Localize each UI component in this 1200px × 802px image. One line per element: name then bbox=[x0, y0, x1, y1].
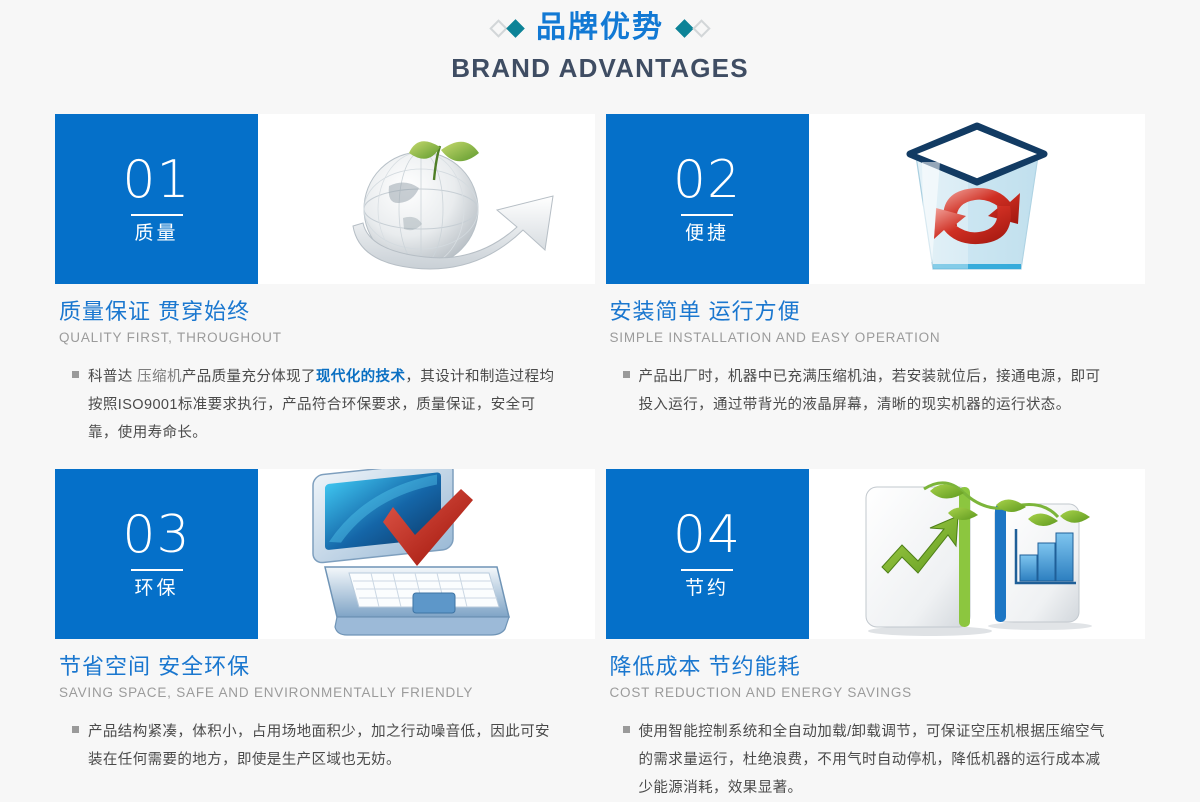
bullet-square-icon bbox=[72, 726, 79, 733]
card-description: 产品出厂时，机器中已充满压缩机油，若安装就位后，接通电源，即可投入运行，通过带背… bbox=[610, 363, 1142, 419]
page-title-cn: 品牌优势 bbox=[536, 8, 664, 48]
title-row: 品牌优势 bbox=[0, 8, 1200, 48]
card-illustration bbox=[809, 469, 1146, 639]
number-badge: 04 节约 bbox=[606, 469, 809, 639]
card-description: 使用智能控制系统和全自动加载/卸载调节，可保证空压机根据压缩空气的需求量运行，杜… bbox=[610, 718, 1142, 802]
card-keyword: 质量 bbox=[134, 222, 178, 246]
number-divider bbox=[131, 569, 183, 571]
advantage-card[interactable]: 04 节约 bbox=[606, 469, 1146, 802]
card-illustration bbox=[258, 469, 595, 639]
card-keyword: 环保 bbox=[134, 577, 178, 601]
number-badge: 03 环保 bbox=[55, 469, 258, 639]
page-title-en: BRAND ADVANTAGES bbox=[0, 52, 1200, 84]
diamond-filled-icon bbox=[506, 19, 524, 37]
card-body: 安装简单 运行方便 SIMPLE INSTALLATION AND EASY O… bbox=[606, 284, 1146, 419]
card-title: 质量保证 贯穿始终 bbox=[59, 298, 591, 326]
globe-sprout-arrow-icon bbox=[261, 114, 591, 284]
card-media: 01 质量 bbox=[55, 114, 595, 284]
advantage-cards-grid: 01 质量 bbox=[55, 114, 1145, 802]
bullet-square-icon bbox=[72, 371, 79, 378]
card-title: 安装简单 运行方便 bbox=[610, 298, 1142, 326]
card-number: 03 bbox=[122, 508, 190, 562]
card-illustration bbox=[809, 114, 1146, 284]
page-header: 品牌优势 BRAND ADVANTAGES bbox=[0, 0, 1200, 84]
card-body: 节省空间 安全环保 SAVING SPACE, SAFE AND ENVIRON… bbox=[55, 639, 595, 774]
card-description-text: 使用智能控制系统和全自动加载/卸载调节，可保证空压机根据压缩空气的需求量运行，杜… bbox=[639, 718, 1109, 802]
advantage-card[interactable]: 01 质量 bbox=[55, 114, 595, 447]
diamond-ornament-left bbox=[492, 22, 522, 35]
bullet-square-icon bbox=[623, 726, 630, 733]
bullet-square-icon bbox=[623, 371, 630, 378]
card-title: 节省空间 安全环保 bbox=[59, 653, 591, 681]
card-description-text: 科普达 压缩机产品质量充分体现了现代化的技术，其设计和制造过程均按照ISO900… bbox=[88, 363, 558, 447]
diamond-ornament-right bbox=[678, 22, 708, 35]
growth-chart-vine-icon bbox=[812, 469, 1142, 639]
card-description-text: 产品出厂时，机器中已充满压缩机油，若安装就位后，接通电源，即可投入运行，通过带背… bbox=[639, 363, 1109, 419]
diamond-outline-icon bbox=[692, 19, 710, 37]
card-number: 02 bbox=[673, 153, 741, 207]
card-keyword: 便捷 bbox=[685, 222, 729, 246]
advantage-card[interactable]: 02 便捷 bbox=[606, 114, 1146, 447]
recycle-bin-icon bbox=[812, 114, 1142, 284]
card-subtitle: COST REDUCTION AND ENERGY SAVINGS bbox=[610, 684, 1142, 702]
laptop-checkmark-icon bbox=[261, 469, 591, 639]
card-media: 04 节约 bbox=[606, 469, 1146, 639]
card-media: 03 环保 bbox=[55, 469, 595, 639]
card-subtitle: SAVING SPACE, SAFE AND ENVIRONMENTALLY F… bbox=[59, 684, 591, 702]
advantage-card[interactable]: 03 环保 bbox=[55, 469, 595, 802]
card-description-text: 产品结构紧凑，体积小，占用场地面积少，加之行动噪音低，因此可安装在任何需要的地方… bbox=[88, 718, 558, 774]
card-subtitle: QUALITY FIRST, THROUGHOUT bbox=[59, 329, 591, 347]
number-divider bbox=[681, 569, 733, 571]
card-number: 04 bbox=[673, 508, 741, 562]
card-title: 降低成本 节约能耗 bbox=[610, 653, 1142, 681]
number-badge: 02 便捷 bbox=[606, 114, 809, 284]
card-illustration bbox=[258, 114, 595, 284]
number-divider bbox=[131, 214, 183, 216]
card-description: 产品结构紧凑，体积小，占用场地面积少，加之行动噪音低，因此可安装在任何需要的地方… bbox=[59, 718, 591, 774]
number-divider bbox=[681, 214, 733, 216]
number-badge: 01 质量 bbox=[55, 114, 258, 284]
card-number: 01 bbox=[122, 153, 190, 207]
card-body: 降低成本 节约能耗 COST REDUCTION AND ENERGY SAVI… bbox=[606, 639, 1146, 802]
card-body: 质量保证 贯穿始终 QUALITY FIRST, THROUGHOUT 科普达 … bbox=[55, 284, 595, 447]
card-keyword: 节约 bbox=[685, 577, 729, 601]
card-description: 科普达 压缩机产品质量充分体现了现代化的技术，其设计和制造过程均按照ISO900… bbox=[59, 363, 591, 447]
card-subtitle: SIMPLE INSTALLATION AND EASY OPERATION bbox=[610, 329, 1142, 347]
card-media: 02 便捷 bbox=[606, 114, 1146, 284]
